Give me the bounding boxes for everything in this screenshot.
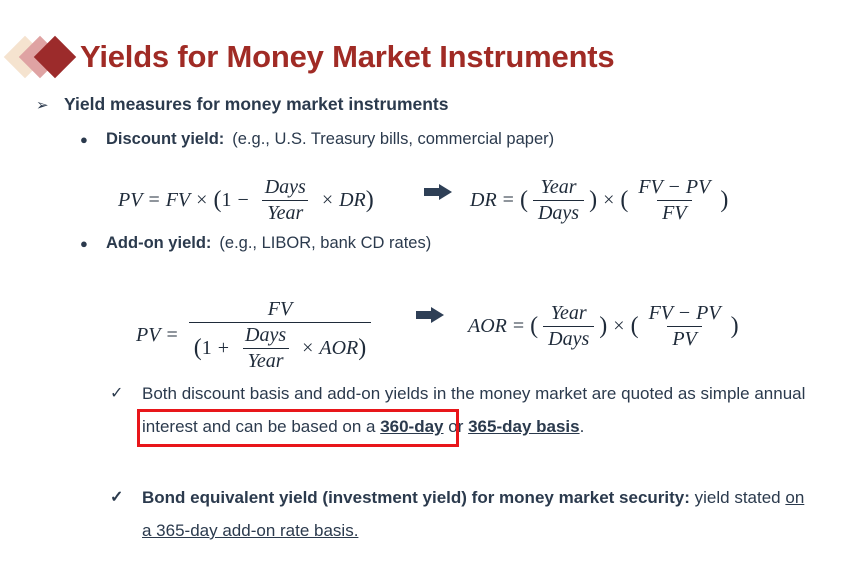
bullet-discount-yield: ● Discount yield: (e.g., U.S. Treasury b… (80, 130, 554, 149)
eq3-open-paren: ( (194, 335, 202, 362)
eq2-days: Days (533, 200, 584, 225)
bullet-level1-yield-measures: ➢ Yield measures for money market instru… (36, 94, 449, 115)
slide-title-row: Yields for Money Market Instruments (0, 26, 844, 88)
eq1-times: × (196, 189, 207, 212)
note1-period: . (580, 417, 585, 436)
note1-part2: and can be based on a (198, 417, 380, 436)
eq1-open-paren: ( (213, 187, 221, 214)
check-bullet-icon: ✓ (110, 481, 142, 514)
note-simple-annual-interest: ✓ Both discount basis and add-on yields … (110, 377, 810, 443)
note-bond-equivalent-yield: ✓ Bond equivalent yield (investment yiel… (110, 481, 810, 547)
eq2-gain-over-fv: FV − PV FV (633, 176, 715, 225)
eq2-fv: FV (657, 200, 691, 225)
eq1-days-over-year: Days Year (260, 176, 311, 225)
check-bullet-icon: ✓ (110, 377, 142, 410)
eq4-close-paren-2: ) (731, 313, 739, 340)
note1-360-day: 360-day (380, 417, 443, 436)
eq3-pv: PV (136, 324, 160, 347)
eq2-close-paren-1: ) (589, 187, 597, 214)
eq4-times: × (613, 315, 624, 338)
eq1-close-paren: ) (366, 187, 374, 214)
eq1-year: Year (262, 200, 308, 225)
eq2-close-paren-2: ) (720, 187, 728, 214)
eq1-times-2: × (322, 189, 333, 212)
eq4-days: Days (543, 326, 594, 351)
eq1-days: Days (260, 176, 311, 200)
eq2-year-over-days: Year Days (533, 176, 584, 225)
eq2-open-paren-2: ( (620, 187, 628, 214)
eq4-equals: = (513, 315, 524, 338)
eq4-open-paren-2: ( (631, 313, 639, 340)
eq3-times: × (302, 337, 313, 360)
note1-part3: or (444, 417, 469, 436)
eq3-days-over-year: Days Year (240, 324, 291, 373)
implies-arrow-icon-1 (424, 184, 452, 200)
eq3-one: 1 (202, 337, 212, 360)
eq4-year: Year (546, 302, 592, 326)
eq4-open-paren-1: ( (530, 313, 538, 340)
eq3-main-fraction: FV ( 1 + Days Year × AOR ) (189, 298, 372, 373)
eq1-fv: FV (166, 189, 190, 212)
dot-bullet-icon: ● (80, 236, 106, 251)
eq3-denominator: ( 1 + Days Year × AOR ) (189, 322, 372, 373)
eq3-aor: AOR (319, 337, 358, 360)
eq3-close-paren: ) (358, 335, 366, 362)
eq2-times: × (603, 189, 614, 212)
eq4-close-paren-1: ) (599, 313, 607, 340)
eq4-fv-minus-pv: FV − PV (644, 302, 726, 326)
eq2-dr: DR (470, 189, 497, 212)
eq2-year: Year (536, 176, 582, 200)
eq1-equals: = (148, 189, 159, 212)
note1-body: Both discount basis and add-on yields in… (142, 377, 810, 443)
discount-yield-label: Discount yield: (106, 130, 224, 149)
eq3-year: Year (243, 348, 289, 373)
discount-rate-formula: DR = ( Year Days ) × ( FV − PV FV ) (470, 176, 728, 225)
eq1-dr: DR (339, 189, 366, 212)
diamond-logo (8, 33, 76, 81)
eq2-fv-minus-pv: FV − PV (633, 176, 715, 200)
discount-yield-pv-formula: PV = FV × ( 1 − Days Year × DR ) (118, 176, 374, 225)
note2-bold-lead: Bond equivalent yield (investment yield)… (142, 488, 690, 507)
add-on-yield-label: Add-on yield: (106, 234, 211, 253)
bullet-level1-label: Yield measures for money market instrume… (64, 94, 449, 115)
note2-plain: yield stated (690, 488, 785, 507)
arrow-bullet-icon: ➢ (36, 96, 64, 114)
dot-bullet-icon: ● (80, 132, 106, 147)
note1-365-day-basis: 365-day basis (468, 417, 580, 436)
page-title: Yields for Money Market Instruments (80, 39, 614, 75)
eq3-fv: FV (263, 298, 297, 322)
eq2-open-paren-1: ( (520, 187, 528, 214)
discount-yield-examples: (e.g., U.S. Treasury bills, commercial p… (232, 130, 554, 149)
implies-arrow-icon-2 (416, 307, 444, 323)
eq1-minus: − (237, 189, 248, 212)
eq1-pv: PV (118, 189, 142, 212)
eq4-aor: AOR (468, 315, 507, 338)
eq4-gain-over-pv: FV − PV PV (644, 302, 726, 351)
eq4-pv: PV (667, 326, 701, 351)
eq4-year-over-days: Year Days (543, 302, 594, 351)
note1-part1: Both discount basis and add-on yields in… (142, 384, 621, 403)
bullet-add-on-yield: ● Add-on yield: (e.g., LIBOR, bank CD ra… (80, 234, 431, 253)
eq1-one: 1 (221, 189, 231, 212)
add-on-yield-pv-formula: PV = FV ( 1 + Days Year × AOR ) (136, 298, 376, 373)
eq3-plus: + (218, 337, 229, 360)
eq3-days: Days (240, 324, 291, 348)
add-on-yield-examples: (e.g., LIBOR, bank CD rates) (219, 234, 431, 253)
eq2-equals: = (503, 189, 514, 212)
note2-body: Bond equivalent yield (investment yield)… (142, 481, 810, 547)
eq3-equals: = (166, 324, 177, 347)
add-on-rate-formula: AOR = ( Year Days ) × ( FV − PV PV ) (468, 302, 739, 351)
